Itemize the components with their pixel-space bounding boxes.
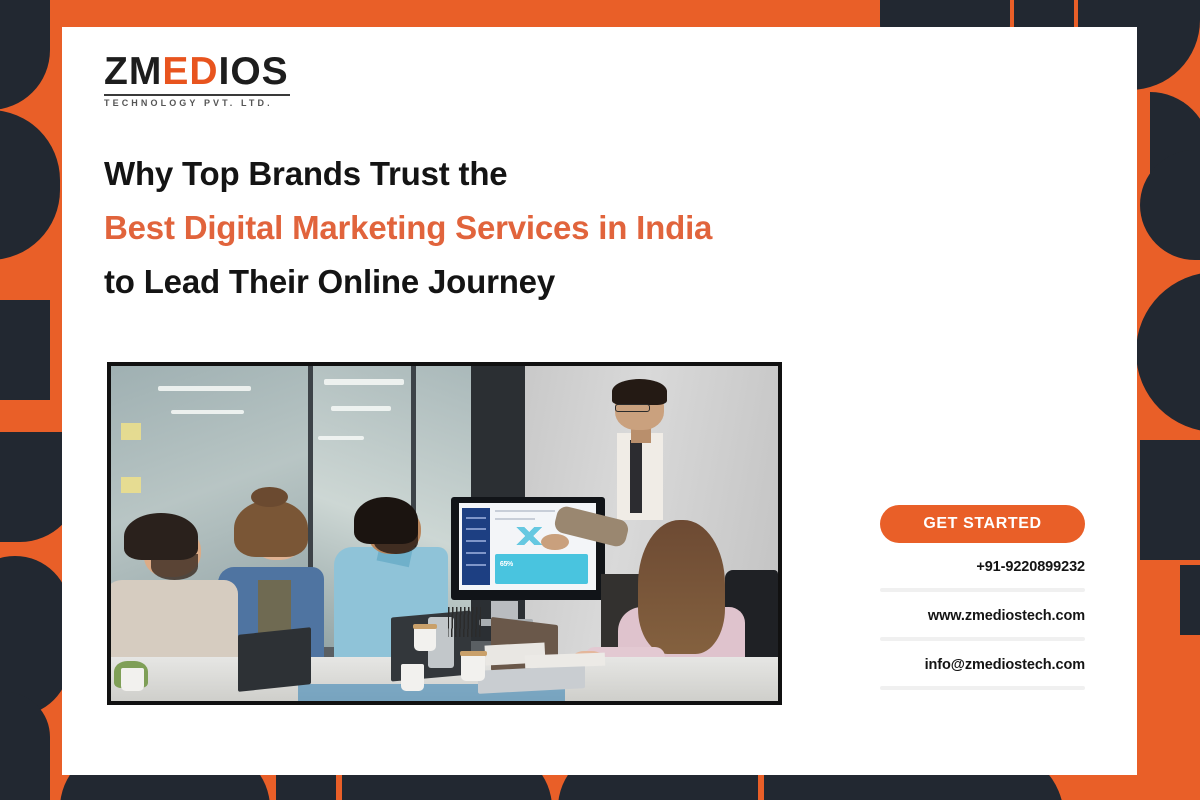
logo-part-zm: ZM: [104, 50, 162, 93]
photo-coffee-cup-2-lid: [460, 651, 487, 656]
photo-presenter-glasses: [615, 404, 650, 412]
decor-shape-right-3: [1140, 440, 1200, 560]
photo-attendee-3-hair: [354, 497, 417, 544]
decor-shape-right-4: [1180, 565, 1200, 635]
photo-ceiling-light-4: [331, 406, 391, 411]
photo-coffee-cup-3: [401, 664, 424, 691]
photo-dashboard-nav-row-4: [466, 552, 486, 554]
photo-dashboard-sub-line: [495, 518, 535, 520]
photo-dashboard-nav-row-1: [466, 517, 486, 519]
contact-website[interactable]: www.zmediostech.com: [880, 592, 1085, 637]
photo-dashboard-metric-value: 65%: [500, 561, 513, 568]
poster-canvas: ZMEDIOS TECHNOLOGY PVT. LTD. Why Top Bra…: [0, 0, 1200, 800]
photo-coffee-cup-1: [414, 627, 435, 650]
contact-panel: GET STARTED +91-9220899232 www.zmedioste…: [880, 505, 1085, 690]
photo-attendee-4-hair: [638, 520, 725, 654]
logo-divider: [104, 94, 290, 96]
headline-line-3: to Lead Their Online Journey: [104, 255, 1004, 309]
photo-sticky-note-1: [121, 423, 141, 440]
logo-wordmark: ZMEDIOS: [104, 52, 290, 91]
photo-coffee-cup-1-lid: [413, 624, 437, 629]
headline-line-2: Best Digital Marketing Services in India: [104, 201, 1004, 255]
contact-email[interactable]: info@zmediostech.com: [880, 641, 1085, 686]
photo-dashboard-title-line: [495, 510, 555, 512]
hero-photo-scene: 65%: [111, 366, 778, 701]
decor-shape-right-2: [1136, 272, 1200, 432]
contact-phone[interactable]: +91-9220899232: [880, 543, 1085, 588]
photo-presenter-hair: [612, 379, 667, 404]
photo-laptop-1: [238, 627, 311, 692]
photo-presenter-tie: [630, 440, 642, 514]
decor-shape-right-1: [1140, 150, 1200, 260]
photo-ceiling-light-1: [158, 386, 251, 391]
hero-photo: 65%: [107, 362, 782, 705]
photo-pen-holder: [448, 607, 481, 637]
brand-logo: ZMEDIOS TECHNOLOGY PVT. LTD.: [104, 52, 290, 108]
page-title: Why Top Brands Trust the Best Digital Ma…: [104, 147, 1004, 308]
photo-dashboard-nav-row-5: [466, 564, 486, 566]
decor-shape-left-1: [0, 0, 50, 110]
photo-ceiling-light-5: [318, 436, 365, 440]
photo-dashboard-sidebar: [462, 508, 490, 585]
photo-coffee-cup-2: [461, 654, 485, 681]
photo-ceiling-light-3: [324, 379, 404, 384]
logo-tagline: TECHNOLOGY PVT. LTD.: [104, 98, 290, 108]
photo-dashboard-nav-row-3: [466, 540, 486, 542]
content-card: ZMEDIOS TECHNOLOGY PVT. LTD. Why Top Bra…: [62, 27, 1137, 775]
photo-attendee-1-hair: [124, 513, 197, 560]
photo-dashboard-metric-card: [495, 554, 588, 584]
photo-coffee-cup-4: [121, 668, 144, 691]
photo-attendee-2-hair-bun: [251, 487, 288, 507]
photo-ceiling-light-2: [171, 410, 244, 415]
headline-line-1: Why Top Brands Trust the: [104, 147, 1004, 201]
photo-dashboard-nav-row-2: [466, 528, 486, 530]
decor-shape-left-2: [0, 110, 60, 260]
decor-shape-left-3: [0, 300, 50, 400]
photo-attendee-2-hair: [234, 500, 307, 557]
get-started-button[interactable]: GET STARTED: [880, 505, 1085, 543]
photo-sticky-note-2: [121, 477, 141, 494]
logo-part-ios: IOS: [219, 50, 289, 93]
contact-divider-3: [880, 686, 1085, 690]
logo-part-ed: ED: [162, 50, 218, 93]
